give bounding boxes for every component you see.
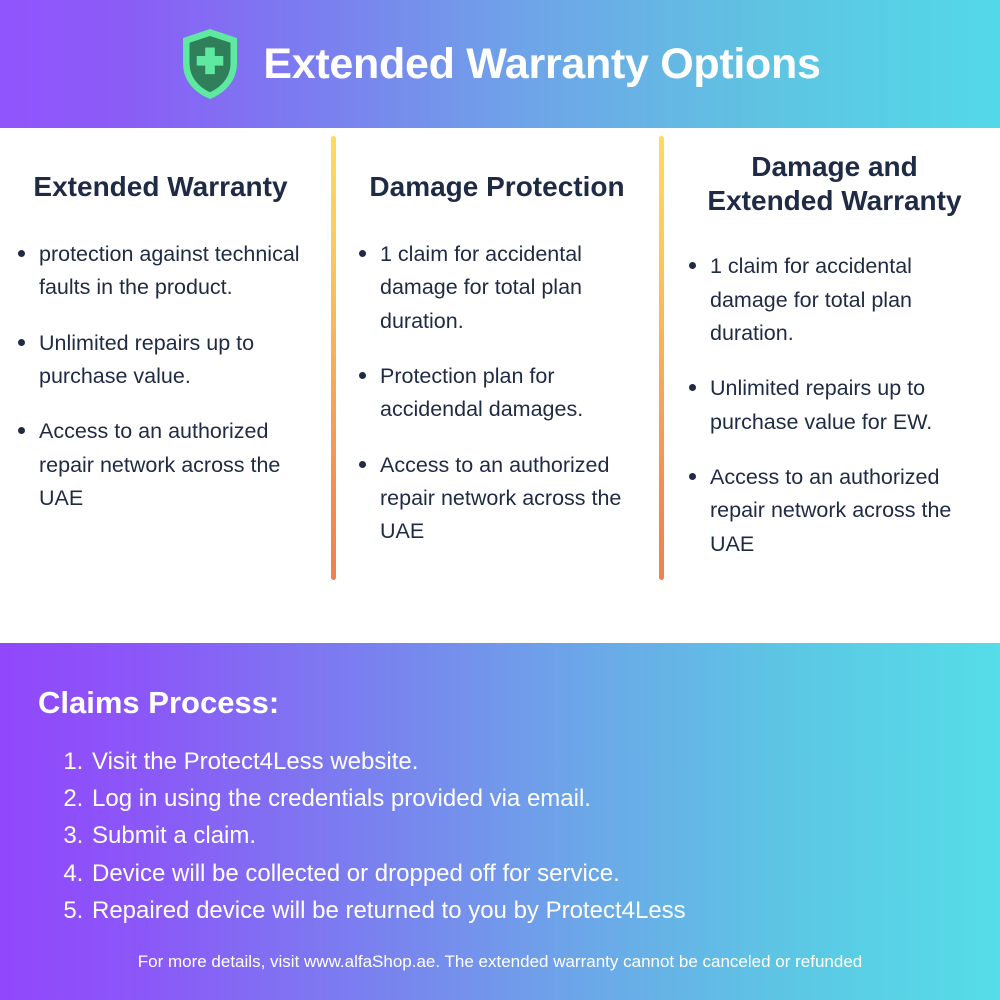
bullet-dot-icon <box>689 473 696 480</box>
list-item-text: Access to an authorized repair network a… <box>710 465 951 556</box>
page-title: Extended Warranty Options <box>263 43 820 86</box>
column-heading: Damage and Extended Warranty <box>685 150 984 218</box>
list-item: Repaired device will be returned to you … <box>90 892 1000 929</box>
list-item: 1 claim for accidental damage for total … <box>355 238 639 338</box>
list-item-text: Protection plan for accidendal damages. <box>380 364 583 421</box>
column-bullet-list: 1 claim for accidental damage for total … <box>355 238 639 549</box>
bullet-dot-icon <box>689 262 696 269</box>
list-item: Access to an authorized repair network a… <box>355 449 639 549</box>
list-item: Visit the Protect4Less website. <box>90 743 1000 780</box>
list-item: Submit a claim. <box>90 817 1000 854</box>
list-item: Unlimited repairs up to purchase value f… <box>685 372 984 439</box>
bullet-dot-icon <box>359 250 366 257</box>
header-band: Extended Warranty Options <box>0 0 1000 128</box>
list-item: Access to an authorized repair network a… <box>685 461 984 561</box>
list-item-text: Access to an authorized repair network a… <box>39 419 280 510</box>
column-bullet-list: 1 claim for accidental damage for total … <box>685 250 984 561</box>
bullet-dot-icon <box>359 372 366 379</box>
list-item-text: Unlimited repairs up to purchase value. <box>39 331 254 388</box>
list-item-text: 1 claim for accidental damage for total … <box>380 242 582 333</box>
plan-column-damage-protection: Damage Protection 1 claim for accidental… <box>333 146 661 643</box>
plan-comparison-columns: Extended Warranty protection against tec… <box>0 128 1000 643</box>
column-bullet-list: protection against technical faults in t… <box>14 238 307 515</box>
bullet-dot-icon <box>689 384 696 391</box>
claims-process-title: Claims Process: <box>38 685 1000 721</box>
plan-column-damage-and-extended-warranty: Damage and Extended Warranty 1 claim for… <box>661 146 1000 643</box>
list-item: Access to an authorized repair network a… <box>14 415 307 515</box>
bullet-dot-icon <box>18 250 25 257</box>
list-item: Unlimited repairs up to purchase value. <box>14 327 307 394</box>
list-item: Device will be collected or dropped off … <box>90 855 1000 892</box>
shield-health-icon <box>179 27 241 101</box>
list-item-text: Access to an authorized repair network a… <box>380 453 621 544</box>
list-item: 1 claim for accidental damage for total … <box>685 250 984 350</box>
bullet-dot-icon <box>18 339 25 346</box>
list-item-text: protection against technical faults in t… <box>39 242 300 299</box>
list-item-text: 1 claim for accidental damage for total … <box>710 254 912 345</box>
plan-column-extended-warranty: Extended Warranty protection against tec… <box>0 146 333 643</box>
bullet-dot-icon <box>18 427 25 434</box>
footer-note: For more details, visit www.alfaShop.ae.… <box>0 952 1000 972</box>
list-item: protection against technical faults in t… <box>14 238 307 305</box>
list-item: Protection plan for accidendal damages. <box>355 360 639 427</box>
bullet-dot-icon <box>359 461 366 468</box>
column-heading: Extended Warranty <box>14 170 307 204</box>
column-heading: Damage Protection <box>355 170 639 204</box>
claims-process-band: Claims Process: Visit the Protect4Less w… <box>0 643 1000 1000</box>
claims-process-steps: Visit the Protect4Less website. Log in u… <box>62 743 1000 929</box>
warranty-options-poster: Extended Warranty Options Extended Warra… <box>0 0 1000 1000</box>
list-item: Log in using the credentials provided vi… <box>90 780 1000 817</box>
list-item-text: Unlimited repairs up to purchase value f… <box>710 376 932 433</box>
